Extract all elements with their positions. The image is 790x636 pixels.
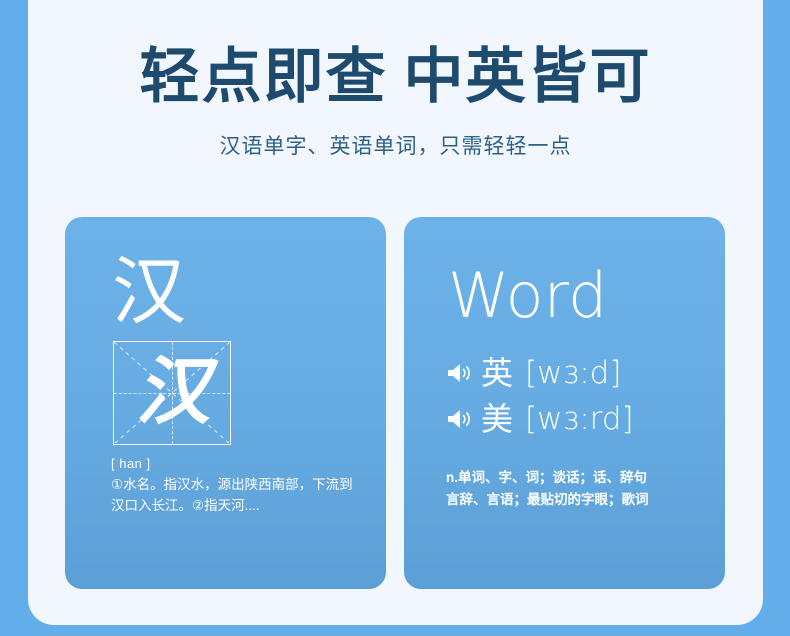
pronunciation-lang-us: 美 <box>481 403 513 435</box>
chinese-pinyin: [ han ] <box>111 456 151 471</box>
speaker-icon[interactable] <box>446 362 472 384</box>
chinese-character-card[interactable]: 汉 汉 [ han ] ①水名。指汉水，源出陕西南部，下流到汉口入长江。②指天河… <box>65 217 386 589</box>
pronunciation-row-uk[interactable]: 英 [wɜ:d] <box>446 357 621 389</box>
english-definition-line1: n.单词、字、词；谈话；话、辞句 <box>446 467 708 489</box>
chinese-definition: ①水名。指汉水，源出陕西南部，下流到汉口入长江。②指天河.... <box>111 475 363 516</box>
page-subtitle: 汉语单字、英语单词，只需轻轻一点 <box>28 130 763 160</box>
pronunciation-lang-uk: 英 <box>481 357 513 389</box>
page-title: 轻点即查中英皆可 <box>28 45 763 110</box>
english-word-headword: Word <box>448 265 607 327</box>
cards-row: 汉 汉 [ han ] ①水名。指汉水，源出陕西南部，下流到汉口入长江。②指天河… <box>65 217 725 589</box>
speaker-icon[interactable] <box>446 408 472 430</box>
page-title-part1: 轻点即查 <box>140 43 388 110</box>
english-word-card[interactable]: Word 英 [wɜ:d] 美 <box>404 217 725 589</box>
page-title-part2: 中英皆可 <box>404 43 652 110</box>
pronunciation-row-us[interactable]: 美 [wɜ:rd] <box>446 403 634 435</box>
chinese-character-headword: 汉 <box>112 261 186 325</box>
header: 轻点即查中英皆可 汉语单字、英语单词，只需轻轻一点 <box>28 0 763 160</box>
english-definition-line2: 言辞、言语；最贴切的字眼；歌词 <box>446 489 708 511</box>
english-definition: n.单词、字、词；谈话；话、辞句 言辞、言语；最贴切的字眼；歌词 <box>446 467 708 510</box>
grid-character: 汉 <box>114 342 230 444</box>
mi-zi-ge-grid-icon: 汉 <box>113 341 231 445</box>
content-panel: 轻点即查中英皆可 汉语单字、英语单词，只需轻轻一点 汉 汉 [ han ] <box>28 0 763 625</box>
page-root: 轻点即查中英皆可 汉语单字、英语单词，只需轻轻一点 汉 汉 [ han ] <box>0 0 790 636</box>
pronunciation-ipa-us: [wɜ:rd] <box>525 404 634 435</box>
pronunciation-ipa-uk: [wɜ:d] <box>525 358 621 389</box>
